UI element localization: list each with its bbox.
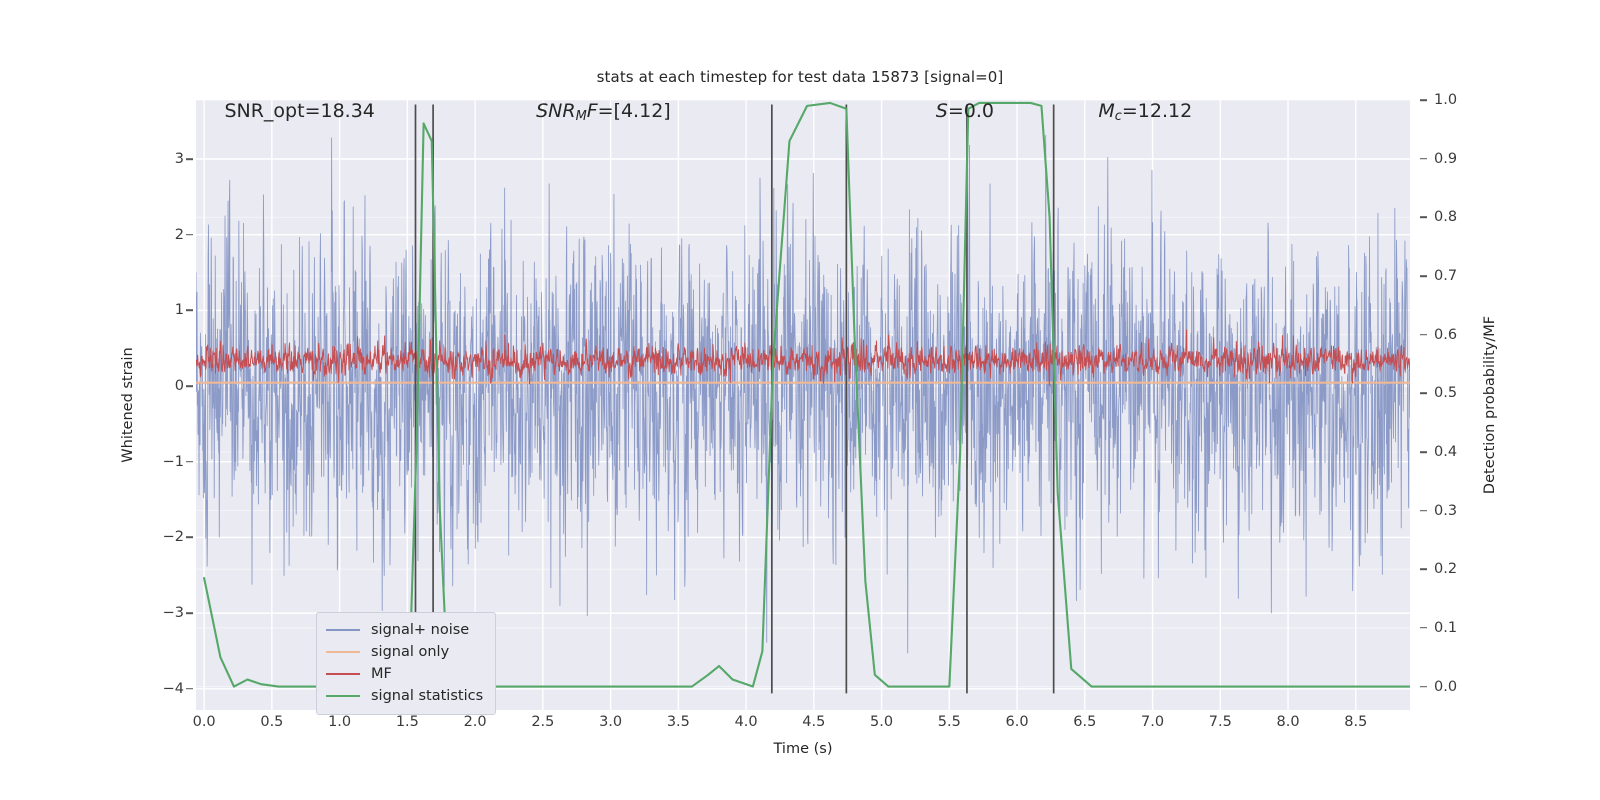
- x-tick-label: 6.5: [1073, 714, 1096, 730]
- y-right-tick-label: 0.2: [1434, 561, 1457, 577]
- x-tick-label: 0.5: [260, 714, 283, 730]
- x-tick-label: 6.0: [1006, 714, 1029, 730]
- y-right-tickmark: [1420, 568, 1427, 570]
- y-left-tickmark: [186, 461, 193, 463]
- y-right-tickmark: [1420, 275, 1427, 277]
- y-right-tickmark: [1420, 451, 1427, 453]
- y-right-tickmark: [1420, 99, 1427, 101]
- y-axis-right-label: Detection probability/MF: [1482, 316, 1498, 494]
- signal-plus-noise-trace: [196, 135, 1410, 653]
- y-left-tickmark: [186, 234, 193, 236]
- y-left-tick-label: 3: [134, 151, 184, 167]
- y-right-tick-label: 0.3: [1434, 503, 1457, 519]
- legend-color-swatch: [326, 673, 360, 675]
- legend: signal+ noisesignal onlyMFsignal statist…: [316, 612, 496, 715]
- x-tick-label: 1.0: [328, 714, 351, 730]
- y-right-tickmark: [1420, 217, 1427, 219]
- legend-color-swatch: [326, 651, 360, 653]
- y-right-tick-label: 0.6: [1434, 327, 1457, 343]
- y-right-tickmark: [1420, 158, 1427, 160]
- y-right-tick-label: 0.7: [1434, 268, 1457, 284]
- legend-color-swatch: [326, 629, 360, 631]
- x-tick-label: 3.0: [599, 714, 622, 730]
- x-tick-label: 5.0: [870, 714, 893, 730]
- annotation-snr-mf: SNRMF=[4.12]: [536, 100, 671, 124]
- y-right-tick-label: 1.0: [1434, 92, 1457, 108]
- y-right-tick-label: 0.8: [1434, 209, 1457, 225]
- legend-mf[interactable]: MF: [326, 663, 486, 685]
- x-tick-label: 2.5: [531, 714, 554, 730]
- x-tick-label: 8.5: [1344, 714, 1367, 730]
- y-left-tick-label: 1: [134, 302, 184, 318]
- legend-entry-label: signal only: [371, 644, 449, 660]
- y-right-tickmark: [1420, 510, 1427, 512]
- y-right-tickmark: [1420, 627, 1427, 629]
- x-tick-label: 4.5: [802, 714, 825, 730]
- legend-signal-only[interactable]: signal only: [326, 641, 486, 663]
- y-right-tickmark: [1420, 334, 1427, 336]
- y-left-tick-label: 2: [134, 227, 184, 243]
- y-right-tickmark: [1420, 392, 1427, 394]
- legend-color-swatch: [326, 695, 360, 697]
- x-tick-label: 5.5: [938, 714, 961, 730]
- y-left-tick-label: −4: [134, 681, 184, 697]
- y-right-tick-label: 0.0: [1434, 679, 1457, 695]
- y-axis-left-label: Whitened strain: [120, 347, 136, 462]
- legend-signal-statistics[interactable]: signal statistics: [326, 685, 486, 707]
- x-tick-label: 0.0: [193, 714, 216, 730]
- y-left-tick-label: 0: [134, 378, 184, 394]
- x-tick-label: 1.5: [396, 714, 419, 730]
- y-left-tick-label: −3: [134, 605, 184, 621]
- x-tick-label: 7.5: [1209, 714, 1232, 730]
- y-left-tickmark: [186, 688, 193, 690]
- x-tick-label: 3.5: [667, 714, 690, 730]
- y-right-tick-label: 0.1: [1434, 620, 1457, 636]
- x-axis-label: Time (s): [774, 741, 833, 757]
- y-left-tickmark: [186, 310, 193, 312]
- annotation-snr-opt: SNR_opt=18.34: [224, 100, 374, 122]
- page-title: stats at each timestep for test data 158…: [0, 68, 1600, 86]
- legend-signal-noise[interactable]: signal+ noise: [326, 619, 486, 641]
- figure-canvas: stats at each timestep for test data 158…: [0, 0, 1600, 800]
- series-signal-plus-noise: [196, 135, 1410, 653]
- y-right-tick-label: 0.9: [1434, 151, 1457, 167]
- x-tick-label: 7.0: [1141, 714, 1164, 730]
- y-left-tickmark: [186, 537, 193, 539]
- legend-entry-label: signal+ noise: [371, 622, 469, 638]
- y-left-tickmark: [186, 612, 193, 614]
- y-right-tickmark: [1420, 686, 1427, 688]
- x-tick-label: 4.0: [735, 714, 758, 730]
- y-right-tick-label: 0.5: [1434, 385, 1457, 401]
- legend-entry-label: signal statistics: [371, 688, 483, 704]
- x-tick-label: 8.0: [1277, 714, 1300, 730]
- y-right-tick-label: 0.4: [1434, 444, 1457, 460]
- y-left-tickmark: [186, 158, 193, 160]
- y-left-tick-label: −2: [134, 529, 184, 545]
- x-tick-label: 2.0: [464, 714, 487, 730]
- legend-entry-label: MF: [371, 666, 392, 682]
- y-left-tickmark: [186, 385, 193, 387]
- y-left-tick-label: −1: [134, 454, 184, 470]
- annotation-detection-statistic: S=0.0: [936, 100, 994, 122]
- annotation-chirp-mass: Mc=12.12: [1098, 100, 1192, 124]
